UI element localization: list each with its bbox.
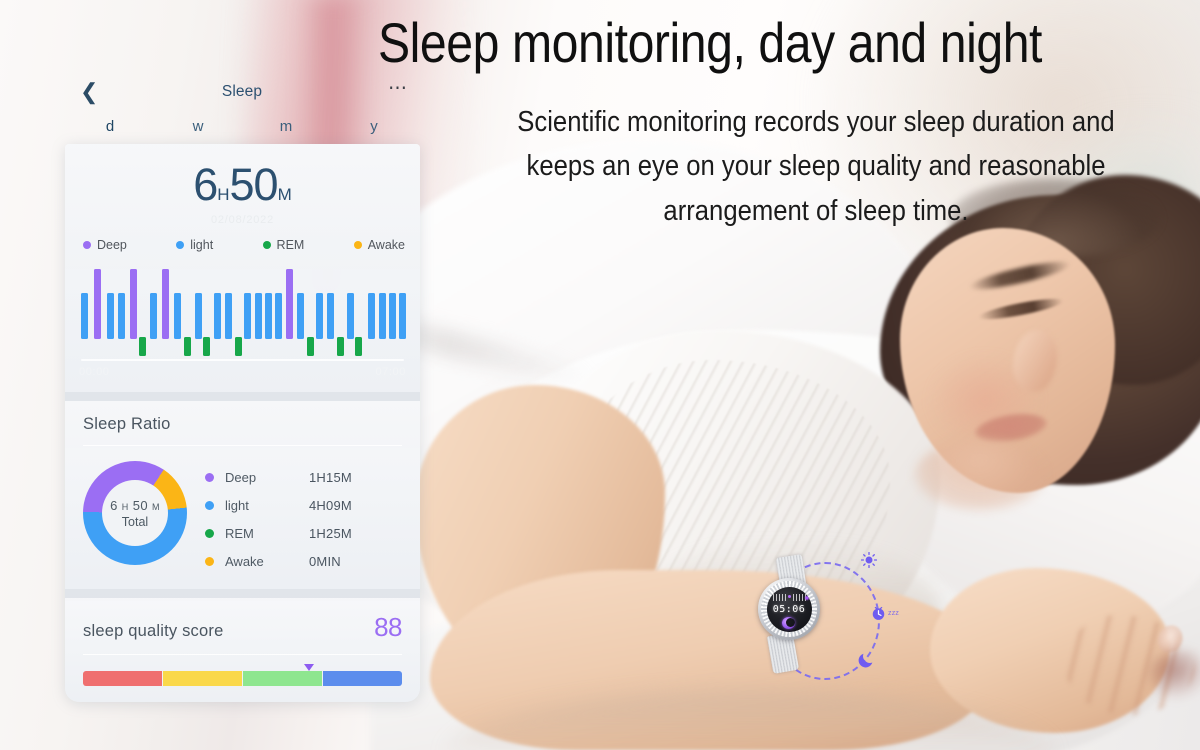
donut-hours-unit: H	[122, 502, 129, 512]
clock-icon	[871, 606, 886, 621]
score-marker	[304, 664, 314, 671]
chart-bar	[162, 269, 169, 339]
score-segment-poor	[83, 671, 162, 686]
score-scale-bar	[83, 671, 402, 686]
ratio-value-deep: 1H15M	[309, 470, 352, 485]
ratio-breakdown-list: Deep 1H15M light 4H09M REM 1H25M	[205, 461, 402, 575]
axis-end-label: 07:00	[375, 366, 406, 378]
ratio-name-light: light	[225, 498, 309, 513]
ratio-dot-deep	[205, 473, 214, 482]
donut-hours: 6	[110, 498, 118, 513]
ratio-dot-awake	[205, 557, 214, 566]
donut-minutes-unit: M	[152, 502, 160, 512]
chart-bar	[130, 269, 137, 339]
chart-bar	[286, 269, 293, 339]
score-divider	[83, 654, 402, 655]
app-title: Sleep	[66, 83, 418, 101]
promo-screenshot: 05:06 zzz S	[0, 0, 1200, 750]
chart-bar	[399, 293, 406, 339]
score-segment-fair	[163, 671, 242, 686]
watch-case: 05:06	[758, 578, 820, 640]
sleep-ratio-title: Sleep Ratio	[65, 415, 420, 445]
ratio-value-rem: 1H25M	[309, 526, 352, 541]
total-sleep-duration: 6H50M	[65, 162, 420, 207]
sleep-panel: 6H50M 02/08/2022 Deep light REM	[65, 144, 420, 702]
chart-bar	[355, 337, 362, 356]
legend-item-awake: Awake	[354, 238, 405, 252]
legend-label-rem: REM	[277, 238, 305, 252]
legend-item-rem: REM	[263, 238, 305, 252]
chart-bar	[368, 293, 375, 339]
watch-time: 05:06	[767, 604, 812, 615]
legend-dot-rem	[263, 241, 271, 249]
moon-icon	[857, 651, 875, 669]
chart-bar	[184, 337, 191, 356]
axis-start-label: 00:00	[79, 366, 110, 378]
card-divider-two	[65, 589, 420, 598]
donut-minutes: 50	[133, 498, 148, 513]
chart-bar	[81, 293, 88, 339]
donut-center: 6 H 50 M Total	[102, 480, 168, 546]
chart-axis-line	[81, 359, 404, 361]
chart-bar	[139, 337, 146, 356]
duration-hours-unit: H	[217, 185, 229, 204]
smartwatch-graphic: 05:06 zzz	[742, 548, 922, 703]
ellipsis-icon[interactable]: ⋯	[388, 82, 408, 95]
chart-bar	[307, 337, 314, 356]
chart-bar	[203, 337, 210, 356]
chart-bar	[225, 293, 232, 339]
ratio-body: 6 H 50 M Total Deep 1H15M	[65, 446, 420, 579]
chart-bar	[235, 337, 242, 356]
ratio-name-rem: REM	[225, 526, 309, 541]
duration-hours: 6	[193, 159, 217, 210]
chart-bar	[174, 293, 181, 339]
score-bar-wrap	[83, 671, 402, 691]
donut-total-label: Total	[122, 515, 148, 529]
moon-icon	[782, 617, 795, 629]
summary-date: 02/08/2022	[65, 214, 420, 226]
chart-bar	[244, 293, 251, 339]
legend-item-deep: Deep	[83, 238, 127, 252]
chart-legend: Deep light REM Awake	[65, 226, 420, 252]
ratio-row-light: light 4H09M	[205, 491, 402, 519]
sleep-zzz-label: zzz	[888, 610, 899, 617]
legend-dot-deep	[83, 241, 91, 249]
sun-icon	[861, 552, 877, 568]
legend-label-deep: Deep	[97, 238, 127, 252]
chart-bar	[94, 269, 101, 339]
watch-face: 05:06	[767, 587, 812, 632]
chart-bar	[337, 337, 344, 356]
score-segment-good	[243, 671, 322, 686]
legend-label-awake: Awake	[368, 238, 405, 252]
chart-bar	[316, 293, 323, 339]
page-title: Sleep monitoring, day and night	[306, 14, 1114, 73]
chart-bar	[150, 293, 157, 339]
chart-bar	[275, 293, 282, 339]
ratio-row-awake: Awake 0MIN	[205, 547, 402, 575]
score-label: sleep quality score	[83, 622, 223, 641]
ratio-value-awake: 0MIN	[309, 554, 341, 569]
legend-item-light: light	[176, 238, 213, 252]
chart-bar	[214, 293, 221, 339]
ratio-value-light: 4H09M	[309, 498, 352, 513]
chart-axis-labels: 00:00 07:00	[81, 366, 404, 382]
watch-accent-dot	[805, 596, 809, 600]
chart-bar	[297, 293, 304, 339]
ratio-dot-rem	[205, 529, 214, 538]
watch-widget-left	[773, 594, 787, 601]
ratio-name-awake: Awake	[225, 554, 309, 569]
woman-chin	[915, 440, 1045, 510]
chart-bar	[347, 293, 354, 339]
sleep-quality-card: sleep quality score 88	[65, 598, 420, 702]
ratio-row-deep: Deep 1H15M	[205, 463, 402, 491]
score-value: 88	[374, 612, 402, 643]
sleep-ratio-card: Sleep Ratio 6 H 50 M Total	[65, 401, 420, 589]
duration-minutes: 50	[230, 159, 278, 210]
ratio-row-rem: REM 1H25M	[205, 519, 402, 547]
ratio-dot-light	[205, 501, 214, 510]
watch-indicator-dot	[788, 595, 791, 598]
chart-bar	[255, 293, 262, 339]
chart-bar	[195, 293, 202, 339]
chart-bar	[265, 293, 272, 339]
card-divider-one	[65, 392, 420, 401]
legend-dot-light	[176, 241, 184, 249]
sleep-summary-card: 6H50M 02/08/2022 Deep light REM	[65, 144, 420, 392]
sleep-ratio-donut: 6 H 50 M Total	[83, 461, 187, 565]
sleep-stage-chart	[81, 264, 404, 364]
chart-bar	[389, 293, 396, 339]
chart-bar	[379, 293, 386, 339]
ratio-name-deep: Deep	[225, 470, 309, 485]
page-subcopy: Scientific monitoring records your sleep…	[488, 100, 1143, 233]
chart-bar	[327, 293, 334, 339]
chart-bar	[107, 293, 114, 339]
donut-total-duration: 6 H 50 M	[110, 498, 160, 513]
legend-label-light: light	[190, 238, 213, 252]
score-header: sleep quality score 88	[65, 612, 420, 654]
duration-minutes-unit: M	[278, 185, 292, 204]
legend-dot-awake	[354, 241, 362, 249]
chart-bar	[118, 293, 125, 339]
score-segment-excellent	[323, 671, 402, 686]
